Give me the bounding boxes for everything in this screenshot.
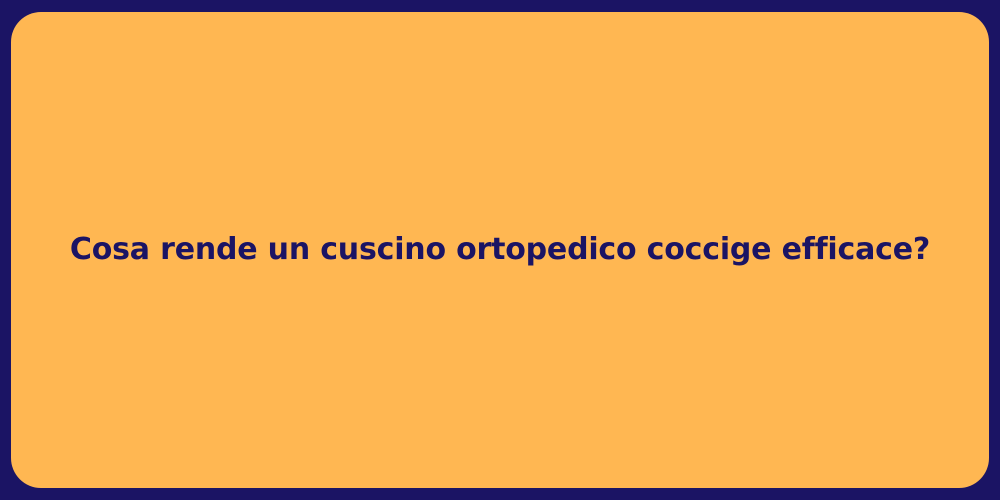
page-title: Cosa rende un cuscino ortopedico coccige… (30, 231, 970, 269)
card-panel: Cosa rende un cuscino ortopedico coccige… (11, 12, 989, 488)
card-frame: Cosa rende un cuscino ortopedico coccige… (0, 0, 1000, 500)
